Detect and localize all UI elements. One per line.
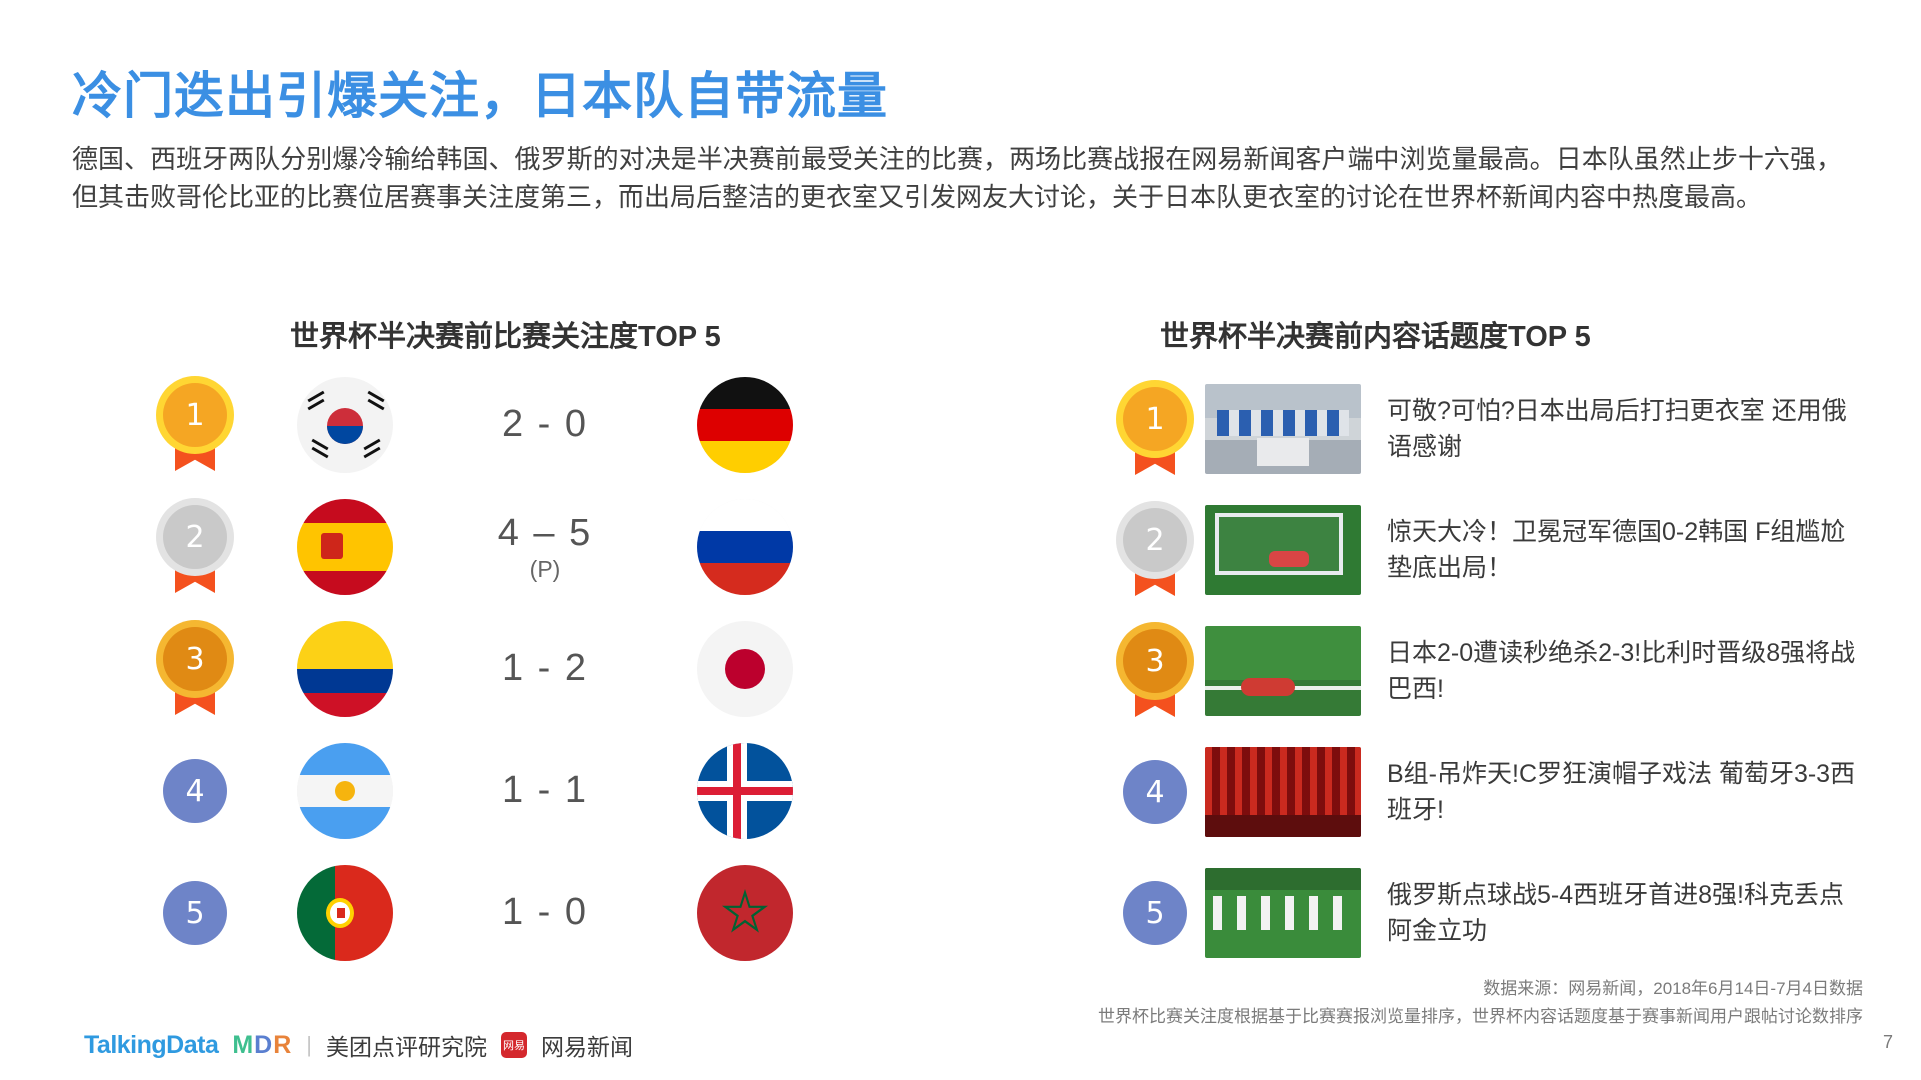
match-row: 41 - 1	[140, 741, 860, 841]
news-row: 5俄罗斯点球战5-4西班牙首进8强!科克丢点阿金立功	[1105, 864, 1895, 962]
news-thumbnail	[1205, 868, 1361, 958]
match-row: 24 – 5(P)	[140, 497, 860, 597]
mdr-logo-m: M	[232, 1031, 254, 1059]
home-team-flag-cell	[250, 499, 440, 595]
match-5-rank-badge: 5	[163, 881, 227, 945]
meituan-research-logo: 美团点评研究院	[326, 1028, 487, 1062]
news-rank-cell: 4	[1105, 760, 1205, 824]
match-score: 1 - 0	[440, 891, 650, 935]
flag-part	[697, 409, 793, 441]
match-score: 2 - 0	[440, 403, 650, 447]
flag-part	[697, 377, 793, 409]
flag-part	[297, 523, 393, 571]
news-rank-cell: 2	[1105, 508, 1205, 592]
match-rank-cell: 5	[140, 881, 250, 945]
flag-part	[297, 807, 393, 839]
match-2-rank-number: 2	[163, 505, 227, 569]
home-team-flag-cell	[250, 377, 440, 473]
flag-icon-ru	[697, 499, 793, 595]
left-section-heading: 世界杯半决赛前比赛关注度TOP 5	[290, 313, 721, 355]
match-4-rank-badge: 4	[163, 759, 227, 823]
footer-logos: TalkingData MDR | 美团点评研究院 网易 网易新闻	[84, 1028, 633, 1062]
match-attention-list: 12 - 024 – 5(P)31 - 241 - 151 - 0	[140, 375, 860, 985]
match-score-value: 1 - 2	[440, 647, 650, 691]
flag-part	[697, 563, 793, 595]
news-row: 1可敬?可怕?日本出局后打扫更衣室 还用俄语感谢	[1105, 380, 1895, 478]
flag-icon-kr	[297, 377, 393, 473]
match-row: 51 - 0	[140, 863, 860, 963]
news-row: 2惊天大冷！卫冕冠军德国0-2韩国 F组尴尬垫底出局！	[1105, 501, 1895, 599]
news-rank-cell: 3	[1105, 629, 1205, 713]
news-thumbnail	[1205, 384, 1361, 474]
match-score: 4 – 5(P)	[440, 512, 650, 582]
away-team-flag-cell	[650, 865, 840, 961]
flag-part	[297, 693, 393, 717]
mdr-logo-d: D	[254, 1031, 273, 1059]
news-headline: 可敬?可怕?日本出局后打扫更衣室 还用俄语感谢	[1387, 393, 1857, 465]
flag-part	[297, 499, 393, 523]
news-3-medal-icon: 3	[1123, 629, 1187, 713]
news-4-rank-badge: 4	[1123, 760, 1187, 824]
page-number: 7	[1883, 1032, 1893, 1053]
flag-part	[725, 649, 765, 689]
match-3-medal-icon: 3	[163, 627, 227, 711]
mdr-logo-r: R	[273, 1031, 292, 1059]
flag-part	[297, 621, 393, 669]
match-2-medal-icon: 2	[163, 505, 227, 589]
flag-part	[335, 781, 355, 801]
flag-part	[297, 669, 393, 693]
match-rank-cell: 3	[140, 627, 250, 711]
page-title: 冷门迭出引爆关注，日本队自带流量	[72, 56, 888, 128]
news-1-rank-number: 1	[1123, 387, 1187, 451]
source-note: 数据来源：网易新闻，2018年6月14日-7月4日数据 世界杯比赛关注度根据基于…	[1098, 975, 1863, 1031]
home-team-flag-cell	[250, 743, 440, 839]
match-rank-cell: 1	[140, 383, 250, 467]
flag-part	[326, 898, 354, 928]
match-score: 1 - 1	[440, 769, 650, 813]
news-row: 4B组-吊炸天!C罗狂演帽子戏法 葡萄牙3-3西班牙!	[1105, 743, 1895, 841]
source-line-2: 世界杯比赛关注度根据基于比赛赛报浏览量排序，世界杯内容话题度基于赛事新闻用户跟帖…	[1098, 1003, 1863, 1031]
away-team-flag-cell	[650, 743, 840, 839]
intro-paragraph: 德国、西班牙两队分别爆冷输给韩国、俄罗斯的对决是半决赛前最受关注的比赛，两场比赛…	[72, 140, 1842, 216]
flag-icon-is	[697, 743, 793, 839]
home-team-flag-cell	[250, 621, 440, 717]
news-2-medal-icon: 2	[1123, 508, 1187, 592]
news-topic-list: 1可敬?可怕?日本出局后打扫更衣室 还用俄语感谢2惊天大冷！卫冕冠军德国0-2韩…	[1105, 380, 1895, 985]
news-5-rank-badge: 5	[1123, 881, 1187, 945]
right-section-heading: 世界杯半决赛前内容话题度TOP 5	[1160, 313, 1591, 355]
match-1-rank-number: 1	[163, 383, 227, 447]
flag-part	[297, 743, 393, 775]
flag-icon-de	[697, 377, 793, 473]
flag-part	[697, 531, 793, 563]
news-headline: 惊天大冷！卫冕冠军德国0-2韩国 F组尴尬垫底出局！	[1387, 514, 1857, 586]
match-score: 1 - 2	[440, 647, 650, 691]
flag-icon-ar	[297, 743, 393, 839]
talkingdata-logo: TalkingData	[84, 1031, 218, 1060]
news-headline: 日本2-0遭读秒绝杀2-3!比利时晋级8强将战巴西!	[1387, 635, 1857, 707]
home-team-flag-cell	[250, 865, 440, 961]
match-row: 12 - 0	[140, 375, 860, 475]
flag-part	[297, 571, 393, 595]
match-score-value: 2 - 0	[440, 403, 650, 447]
source-line-1: 数据来源：网易新闻，2018年6月14日-7月4日数据	[1098, 975, 1863, 1003]
news-thumbnail	[1205, 747, 1361, 837]
match-score-note: (P)	[440, 556, 650, 582]
away-team-flag-cell	[650, 377, 840, 473]
away-team-flag-cell	[650, 499, 840, 595]
match-score-value: 1 - 0	[440, 891, 650, 935]
match-row: 31 - 2	[140, 619, 860, 719]
match-rank-cell: 4	[140, 759, 250, 823]
netease-badge-icon: 网易	[501, 1032, 527, 1058]
away-team-flag-cell	[650, 621, 840, 717]
news-thumbnail	[1205, 505, 1361, 595]
news-3-rank-number: 3	[1123, 629, 1187, 693]
logo-separator: |	[306, 1032, 312, 1058]
news-1-medal-icon: 1	[1123, 387, 1187, 471]
match-score-value: 4 – 5	[440, 512, 650, 556]
flag-part	[697, 787, 793, 795]
match-1-medal-icon: 1	[163, 383, 227, 467]
match-score-value: 1 - 1	[440, 769, 650, 813]
news-thumbnail	[1205, 626, 1361, 716]
news-2-rank-number: 2	[1123, 508, 1187, 572]
flag-part	[321, 533, 343, 559]
flag-icon-co	[297, 621, 393, 717]
news-headline: B组-吊炸天!C罗狂演帽子戏法 葡萄牙3-3西班牙!	[1387, 756, 1857, 828]
flag-icon-es	[297, 499, 393, 595]
news-rank-cell: 5	[1105, 881, 1205, 945]
flag-part	[697, 499, 793, 531]
match-rank-cell: 2	[140, 505, 250, 589]
flag-icon-ma	[697, 865, 793, 961]
news-row: 3日本2-0遭读秒绝杀2-3!比利时晋级8强将战巴西!	[1105, 622, 1895, 720]
mdr-logo: MDR	[232, 1031, 292, 1060]
news-headline: 俄罗斯点球战5-4西班牙首进8强!科克丢点阿金立功	[1387, 877, 1857, 949]
flag-icon-pt	[297, 865, 393, 961]
flag-icon-jp	[697, 621, 793, 717]
news-rank-cell: 1	[1105, 387, 1205, 471]
flag-part	[697, 441, 793, 473]
match-3-rank-number: 3	[163, 627, 227, 691]
netease-news-logo: 网易新闻	[541, 1028, 633, 1062]
